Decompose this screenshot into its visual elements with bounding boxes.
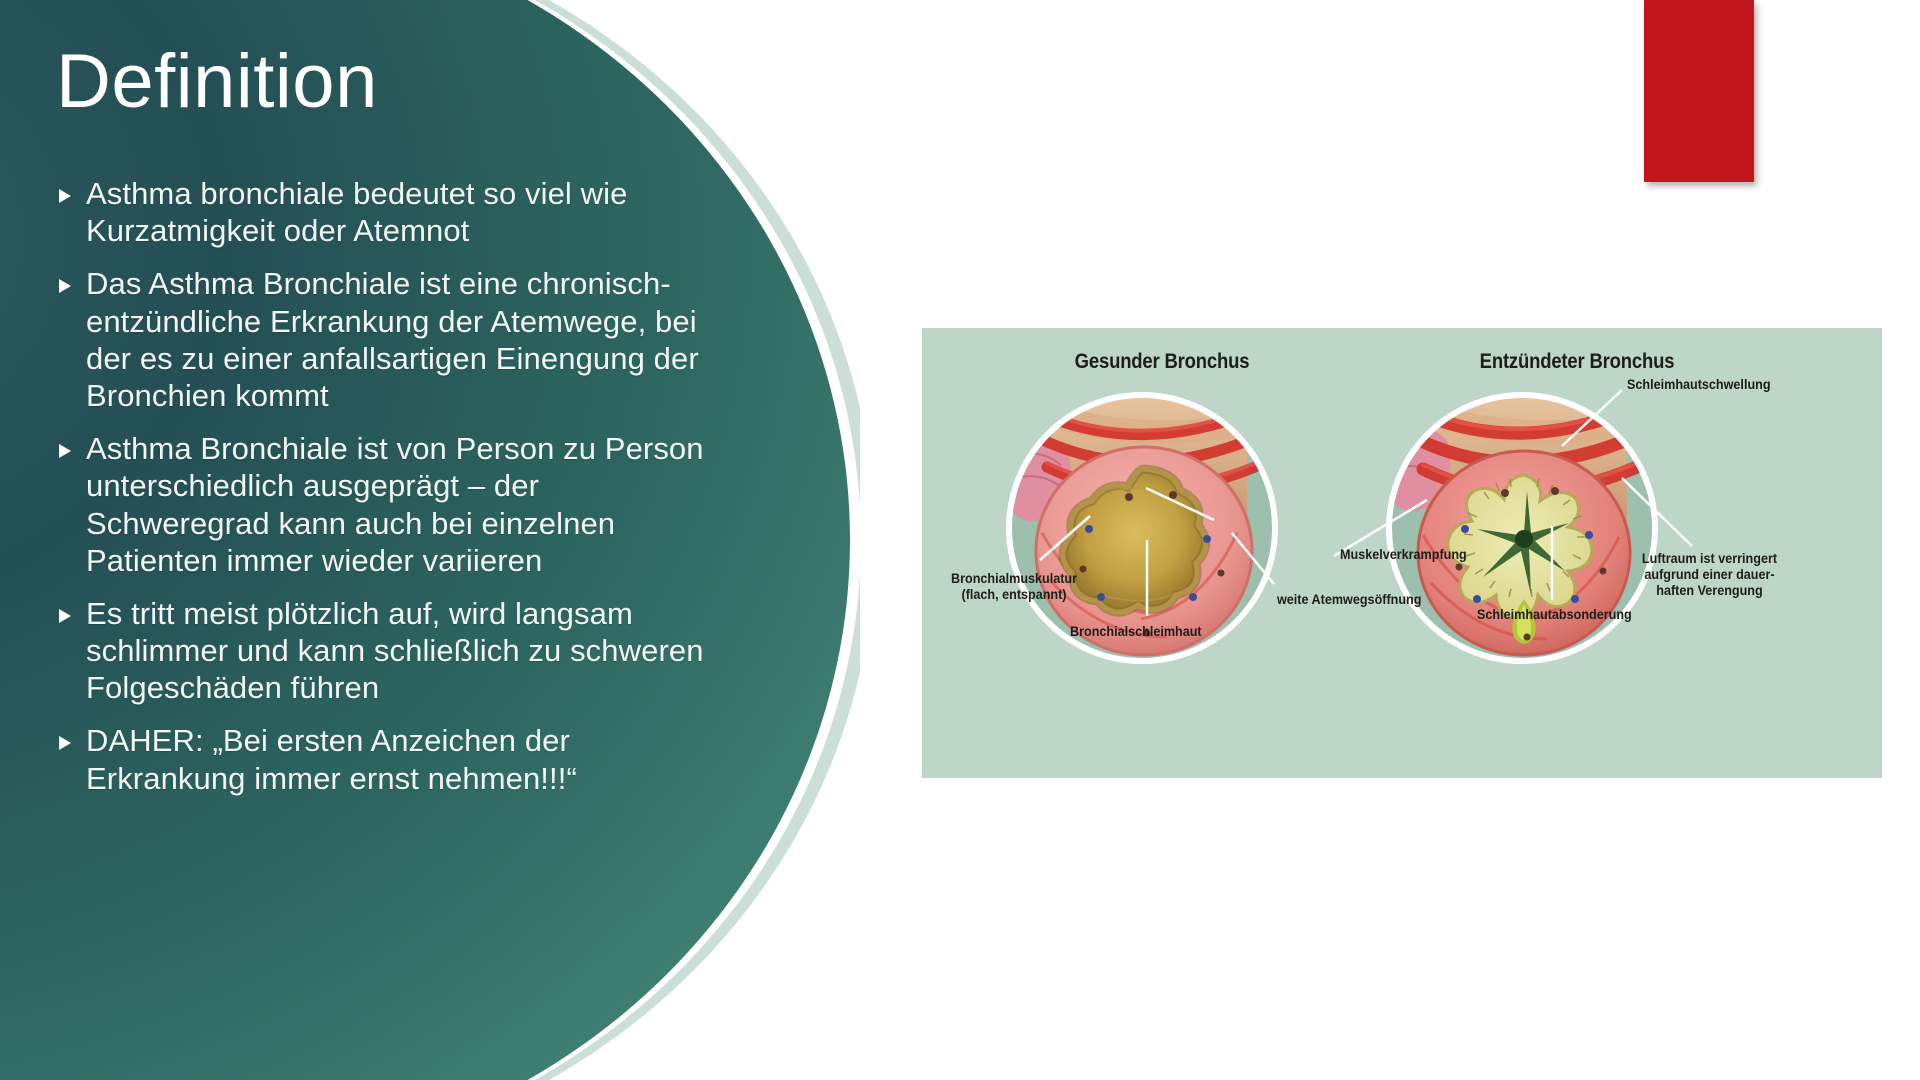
label-luftraum-verringert: Luftraum ist verringert aufgrund einer d… bbox=[1631, 550, 1789, 598]
list-item-text: Das Asthma Bronchiale ist eine chronisch… bbox=[86, 265, 716, 414]
bronchus-illustration-panel: Gesunder Bronchus Entzündeter Bronchus bbox=[922, 328, 1882, 778]
list-item: Es tritt meist plötzlich auf, wird langs… bbox=[56, 595, 716, 707]
triangle-right-icon bbox=[56, 595, 86, 625]
list-item-text: Asthma Bronchiale ist von Person zu Pers… bbox=[86, 430, 716, 579]
triangle-right-icon bbox=[56, 430, 86, 460]
triangle-right-icon bbox=[56, 175, 86, 205]
list-item: Asthma Bronchiale ist von Person zu Pers… bbox=[56, 430, 716, 579]
label-line: (flach, entspannt) bbox=[951, 586, 1077, 602]
diagram-heading-healthy: Gesunder Bronchus bbox=[1030, 350, 1294, 374]
label-line: Bronchialmuskulatur bbox=[951, 570, 1077, 586]
label-schleimhautschwellung: Schleimhautschwellung bbox=[1627, 376, 1771, 392]
inflamed-bronchus-diagram bbox=[1377, 383, 1667, 673]
list-item-text: DAHER: „Bei ersten Anzeichen der Erkrank… bbox=[86, 722, 716, 796]
label-bronchialschleimhaut: Bronchialschleimhaut bbox=[1070, 623, 1202, 639]
list-item: Das Asthma Bronchiale ist eine chronisch… bbox=[56, 265, 716, 414]
list-item: Asthma bronchiale bedeutet so viel wie K… bbox=[56, 175, 716, 249]
list-item: DAHER: „Bei ersten Anzeichen der Erkrank… bbox=[56, 722, 716, 796]
label-muskelverkrampfung: Muskelverkrampfung bbox=[1340, 546, 1467, 562]
label-line: haften Verengung bbox=[1631, 582, 1789, 598]
label-bronchialmuskulatur: Bronchialmuskulatur (flach, entspannt) bbox=[951, 570, 1077, 602]
diagram-heading-inflamed: Entzündeter Bronchus bbox=[1432, 350, 1722, 374]
list-item-text: Asthma bronchiale bedeutet so viel wie K… bbox=[86, 175, 716, 249]
label-line: aufgrund einer dauer- bbox=[1631, 566, 1789, 582]
triangle-right-icon bbox=[56, 265, 86, 295]
label-weite-atemwegsoeffnung: weite Atemwegsöffnung bbox=[1277, 591, 1421, 607]
bullet-list: Asthma bronchiale bedeutet so viel wie K… bbox=[56, 175, 716, 813]
label-schleimhautabsonderung: Schleimhautabsonderung bbox=[1477, 606, 1632, 622]
red-accent-block bbox=[1644, 0, 1754, 182]
triangle-right-icon bbox=[56, 722, 86, 752]
page-title: Definition bbox=[56, 40, 378, 124]
label-line: Luftraum ist verringert bbox=[1631, 550, 1789, 566]
list-item-text: Es tritt meist plötzlich auf, wird langs… bbox=[86, 595, 716, 707]
